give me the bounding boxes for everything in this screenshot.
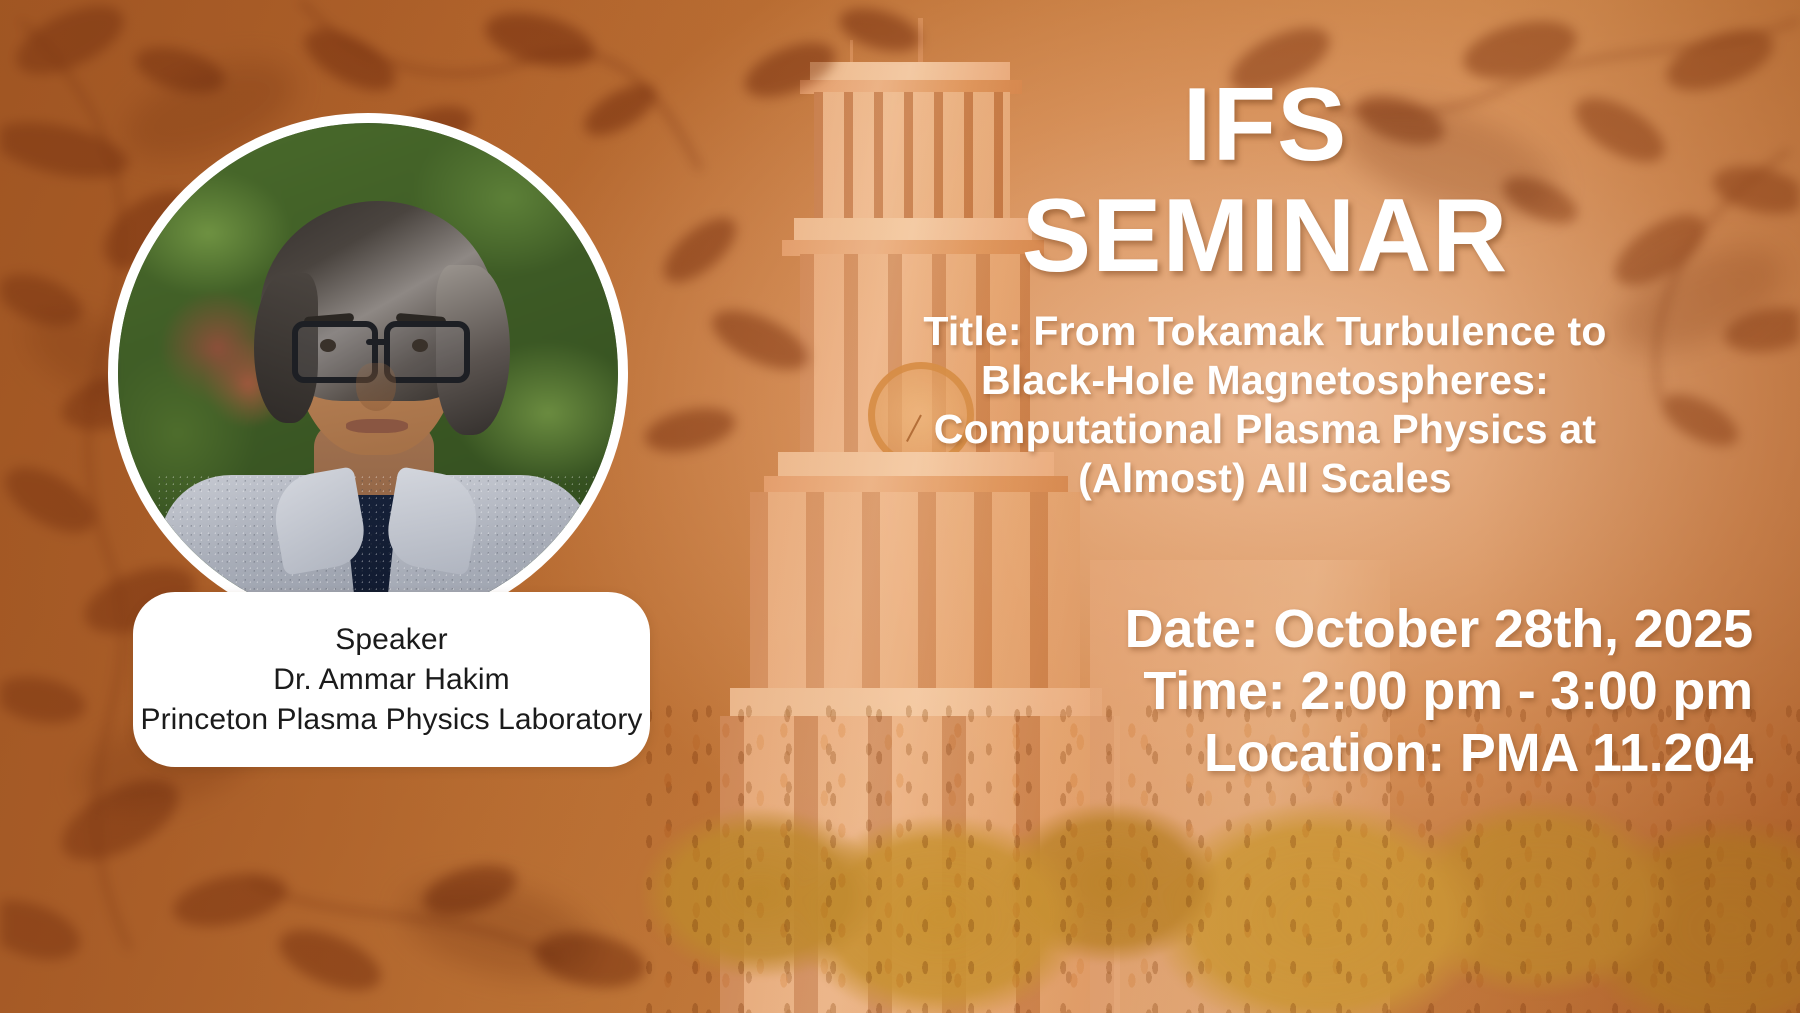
talk-title: Title: From Tokamak Turbulence to Black-… bbox=[760, 307, 1770, 503]
talk-title-line-3: Computational Plasma Physics at bbox=[760, 405, 1770, 454]
speaker-info-card: Speaker Dr. Ammar Hakim Princeton Plasma… bbox=[133, 592, 650, 767]
speaker-role-label: Speaker bbox=[335, 620, 447, 660]
portrait-nose bbox=[356, 363, 396, 411]
poster-heading: IFS SEMINAR bbox=[760, 70, 1770, 293]
portrait-glasses-bridge bbox=[366, 339, 390, 345]
speaker-portrait bbox=[108, 113, 628, 633]
portrait-glasses-lens-right bbox=[384, 321, 470, 383]
poster-text-column: IFS SEMINAR Title: From Tokamak Turbulen… bbox=[760, 70, 1770, 503]
event-date: Date: October 28th, 2025 bbox=[740, 598, 1753, 660]
talk-title-line-2: Black-Hole Magnetospheres: bbox=[760, 356, 1770, 405]
event-details: Date: October 28th, 2025 Time: 2:00 pm -… bbox=[740, 598, 1775, 784]
speaker-affiliation: Princeton Plasma Physics Laboratory bbox=[140, 700, 642, 740]
heading-line-1: IFS bbox=[760, 70, 1770, 181]
portrait-mouth bbox=[346, 419, 408, 433]
speaker-name: Dr. Ammar Hakim bbox=[273, 660, 510, 700]
heading-line-2: SEMINAR bbox=[760, 181, 1770, 292]
talk-title-line-4: (Almost) All Scales bbox=[760, 454, 1770, 503]
talk-title-line-1: Title: From Tokamak Turbulence to bbox=[760, 307, 1770, 356]
seminar-poster: Speaker Dr. Ammar Hakim Princeton Plasma… bbox=[0, 0, 1800, 1013]
event-time: Time: 2:00 pm - 3:00 pm bbox=[740, 660, 1753, 722]
event-location: Location: PMA 11.204 bbox=[740, 722, 1753, 784]
